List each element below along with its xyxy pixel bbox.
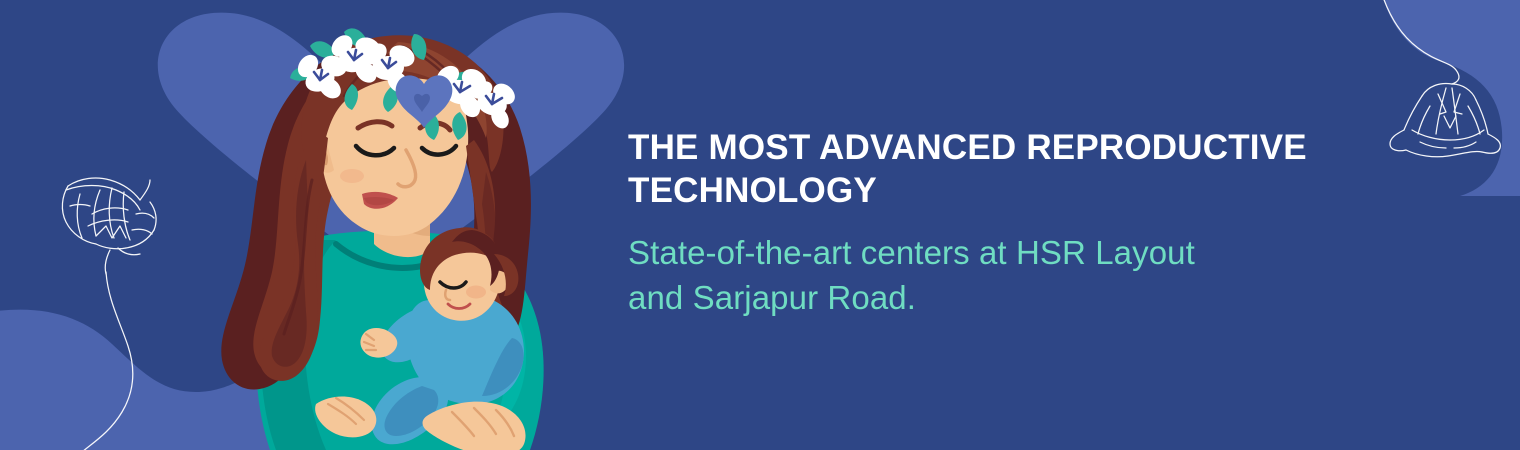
headline: THE MOST ADVANCED REPRODUCTIVE TECHNOLOG… <box>628 126 1418 212</box>
hero-banner: THE MOST ADVANCED REPRODUCTIVE TECHNOLOG… <box>0 0 1520 450</box>
copy-block: THE MOST ADVANCED REPRODUCTIVE TECHNOLOG… <box>628 126 1418 320</box>
subheadline: State-of-the-art centers at HSR Layout a… <box>628 230 1418 320</box>
mother-and-baby-illustration <box>130 0 600 450</box>
